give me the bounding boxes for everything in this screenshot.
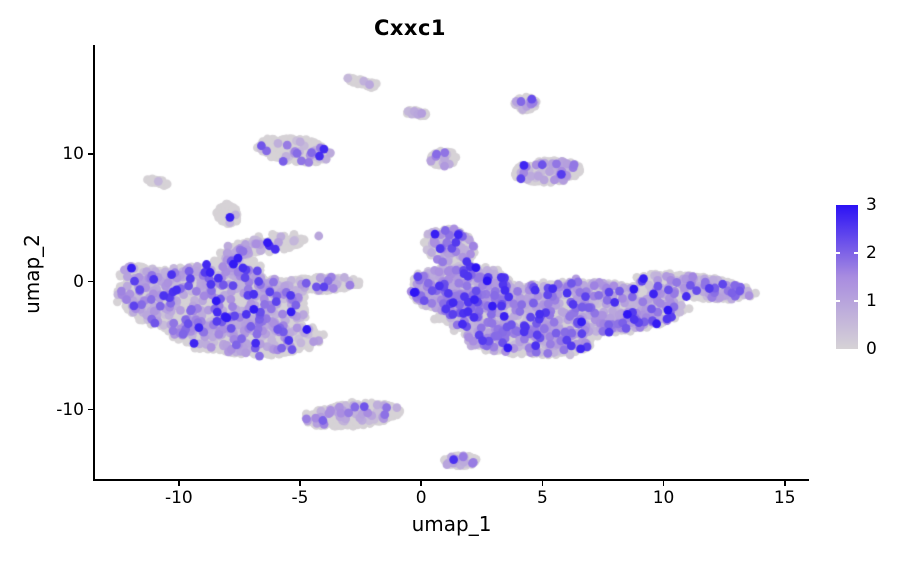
y-axis-spine (93, 45, 95, 481)
x-tick-mark (420, 481, 422, 486)
colorbar-tick-label: 0 (866, 339, 877, 359)
colorbar-tick-mark (854, 252, 858, 253)
x-tick-label: -10 (165, 488, 193, 508)
x-tick-label: 10 (653, 488, 675, 508)
y-tick-label: -10 (56, 400, 84, 420)
y-tick-label: 0 (73, 272, 84, 292)
x-tick-label: 0 (416, 488, 427, 508)
colorbar (836, 205, 858, 349)
x-axis-label: umap_1 (94, 512, 809, 536)
x-tick-label: 5 (537, 488, 548, 508)
x-tick-label: -5 (292, 488, 309, 508)
x-tick-mark (299, 481, 301, 486)
y-tick-mark (88, 153, 93, 155)
page-title: Cxxc1 (0, 16, 820, 40)
umap-feature-plot: Cxxc1 -10-5051015 100-10 umap_1 umap_2 3… (0, 0, 911, 562)
plot-area (94, 45, 809, 480)
colorbar-tick-mark (854, 300, 858, 301)
colorbar-tick-label: 2 (866, 243, 877, 263)
colorbar-gradient (836, 205, 858, 349)
colorbar-tick-mark (836, 252, 840, 253)
colorbar-tick-label: 1 (866, 291, 877, 311)
y-axis-label: umap_2 (20, 194, 44, 354)
scatter-points-canvas (94, 45, 809, 480)
x-axis-spine (93, 479, 809, 481)
y-tick-mark (88, 281, 93, 283)
colorbar-tick-label: 3 (866, 195, 877, 215)
x-tick-mark (178, 481, 180, 486)
x-tick-mark (542, 481, 544, 486)
x-tick-mark (784, 481, 786, 486)
y-tick-mark (88, 409, 93, 411)
colorbar-tick-mark (836, 300, 840, 301)
x-tick-mark (663, 481, 665, 486)
y-tick-label: 10 (62, 144, 84, 164)
x-tick-label: 15 (774, 488, 796, 508)
